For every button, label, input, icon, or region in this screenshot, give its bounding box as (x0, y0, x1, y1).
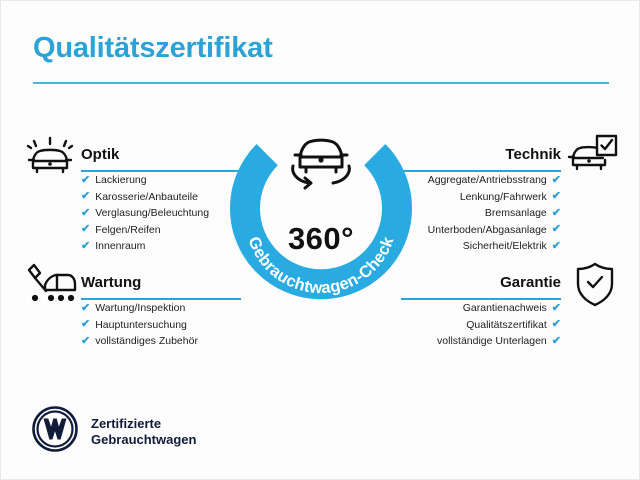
footer-line-1: Zertifizierte (91, 416, 161, 431)
badge-center-label: 360° (225, 221, 417, 257)
section-title-wartung: Wartung (81, 274, 141, 291)
check-icon: ✔ (81, 241, 90, 252)
check-icon: ✔ (81, 303, 90, 314)
footer-brand: Zertifizierte Gebrauchtwagen (31, 405, 196, 458)
check-icon: ✔ (81, 175, 90, 186)
car-checkbox-icon (567, 133, 619, 182)
car-shine-icon (25, 133, 75, 182)
check-icon: ✔ (552, 175, 561, 186)
list-item: ✔vollständiges Zubehör (81, 333, 241, 350)
footer-line-2: Gebrauchtwagen (91, 432, 196, 447)
footer-brand-text: Zertifizierte Gebrauchtwagen (91, 416, 196, 448)
section-divider-wartung (81, 298, 241, 300)
section-divider-technik (401, 170, 561, 172)
badge-360-gebrauchtwagen-check: Gebrauchtwagen-Check 360° (225, 121, 417, 313)
check-icon: ✔ (81, 319, 90, 330)
check-icon: ✔ (81, 224, 90, 235)
check-icon: ✔ (552, 319, 561, 330)
list-item: Lenkung/Fahrwerk✔ (401, 189, 561, 206)
check-icon: ✔ (552, 303, 561, 314)
list-item-label: Qualitätszertifikat (466, 317, 547, 334)
check-icon: ✔ (552, 241, 561, 252)
list-item-label: Lenkung/Fahrwerk (460, 189, 547, 206)
section-header-wartung: Wartung (81, 266, 241, 300)
list-item-label: Felgen/Reifen (95, 222, 160, 239)
checklist-optik: ✔Lackierung ✔Karosserie/Anbauteile ✔Verg… (81, 172, 241, 255)
list-item: ✔Wartung/Inspektion (81, 300, 241, 317)
list-item: Unterboden/Abgasanlage✔ (401, 222, 561, 239)
list-item-label: Verglasung/Beleuchtung (95, 205, 209, 222)
section-title-garantie: Garantie (500, 274, 561, 291)
list-item: Sicherheit/Elektrik✔ (401, 238, 561, 255)
list-item: ✔Karosserie/Anbauteile (81, 189, 241, 206)
section-title-technik: Technik (505, 146, 561, 163)
list-item-label: Karosserie/Anbauteile (95, 189, 198, 206)
list-item: ✔Felgen/Reifen (81, 222, 241, 239)
list-item: Qualitätszertifikat✔ (401, 317, 561, 334)
list-item-label: vollständige Unterlagen (437, 333, 547, 350)
section-divider-garantie (401, 298, 561, 300)
list-item-label: Garantienachweis (463, 300, 547, 317)
checklist-technik: Aggregate/Antriebsstrang✔ Lenkung/Fahrwe… (401, 172, 561, 255)
section-optik: Optik ✔Lackierung ✔Karosserie/Anbauteile… (81, 138, 241, 255)
list-item: vollständige Unterlagen✔ (401, 333, 561, 350)
section-divider-optik (81, 170, 241, 172)
header-divider (33, 82, 609, 84)
list-item: ✔Hauptuntersuchung (81, 317, 241, 334)
list-item-label: Lackierung (95, 172, 146, 189)
section-header-garantie: Garantie (401, 266, 561, 300)
list-item-label: Unterboden/Abgasanlage (428, 222, 547, 239)
list-item: Aggregate/Antriebsstrang✔ (401, 172, 561, 189)
section-technik: Technik Aggregate/Antriebsstrang✔ Lenkun… (401, 138, 561, 255)
list-item: Bremsanlage✔ (401, 205, 561, 222)
shield-check-icon (573, 260, 617, 313)
list-item-label: Bremsanlage (485, 205, 547, 222)
list-item: ✔Verglasung/Beleuchtung (81, 205, 241, 222)
list-item-label: Aggregate/Antriebsstrang (428, 172, 547, 189)
page-title: Qualitätszertifikat (33, 32, 273, 65)
check-icon: ✔ (552, 208, 561, 219)
section-header-technik: Technik (401, 138, 561, 172)
checklist-wartung: ✔Wartung/Inspektion ✔Hauptuntersuchung ✔… (81, 300, 241, 350)
check-icon: ✔ (81, 336, 90, 347)
vw-logo-icon (31, 405, 79, 458)
list-item-label: Hauptuntersuchung (95, 317, 187, 334)
list-item: ✔Innenraum (81, 238, 241, 255)
list-item: ✔Lackierung (81, 172, 241, 189)
check-icon: ✔ (552, 191, 561, 202)
list-item-label: Wartung/Inspektion (95, 300, 185, 317)
check-icon: ✔ (81, 191, 90, 202)
section-header-optik: Optik (81, 138, 241, 172)
section-wartung: Wartung ✔Wartung/Inspektion ✔Hauptunters… (81, 266, 241, 350)
check-icon: ✔ (81, 208, 90, 219)
section-title-optik: Optik (81, 146, 119, 163)
certificate-sheet: Qualitätszertifikat (0, 0, 640, 480)
section-garantie: Garantie Garantienachweis✔ Qualitätszert… (401, 266, 561, 350)
wrench-car-icon (23, 261, 78, 312)
checklist-garantie: Garantienachweis✔ Qualitätszertifikat✔ v… (401, 300, 561, 350)
list-item-label: Sicherheit/Elektrik (463, 238, 547, 255)
list-item: Garantienachweis✔ (401, 300, 561, 317)
list-item-label: vollständiges Zubehör (95, 333, 198, 350)
list-item-label: Innenraum (95, 238, 145, 255)
check-icon: ✔ (552, 336, 561, 347)
check-icon: ✔ (552, 224, 561, 235)
